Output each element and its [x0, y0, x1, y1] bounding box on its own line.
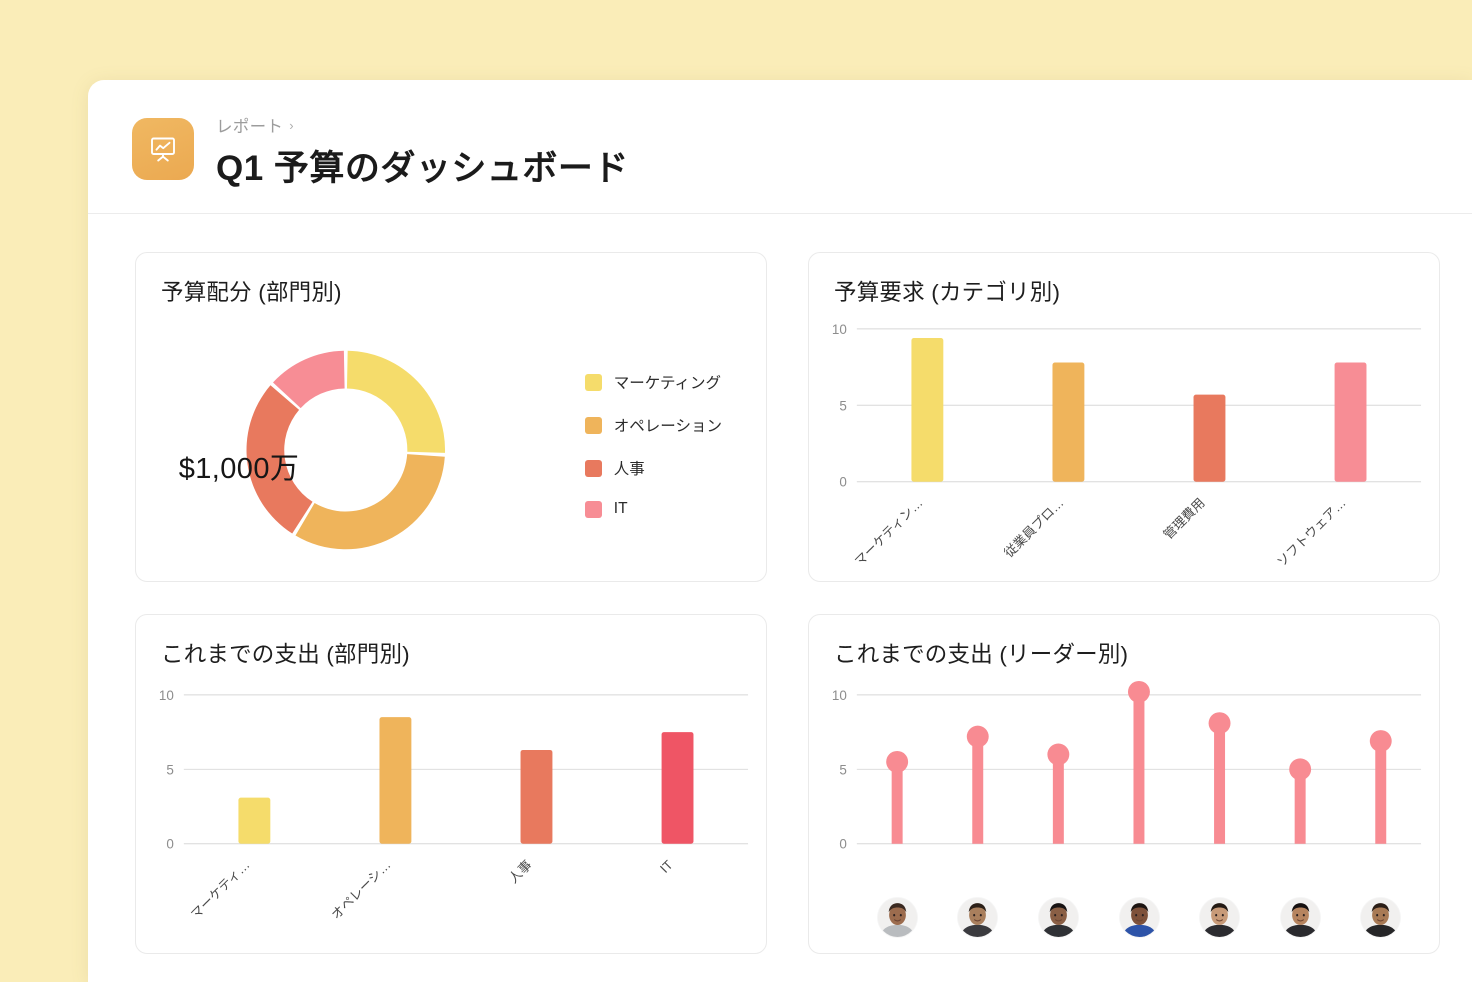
x-tick-label-1: マーケティ… [188, 857, 253, 922]
y-tick-label: 5 [839, 762, 846, 777]
x-tick-label-2: 従業員プロ… [1001, 495, 1067, 560]
y-tick-label: 10 [832, 688, 847, 703]
dashboard-card: レポート › Q1 予算のダッシュボード 予算配分 (部門別) $1,000万 [88, 80, 1472, 982]
donut-slice-2[interactable] [295, 454, 444, 549]
legend-swatch [585, 417, 602, 434]
y-tick-label: 0 [839, 837, 846, 852]
legend-label: オペレーション [614, 414, 722, 436]
lollipop-chart-leaders[interactable]: 0510 [809, 673, 1439, 953]
panel-spend-by-department[interactable]: これまでの支出 (部門別) 0510マーケティ…オペレーシ…人事IT [135, 614, 767, 954]
legend-item-3[interactable]: 人事 [585, 457, 722, 479]
legend-item-2[interactable]: オペレーション [585, 414, 722, 436]
y-tick-label: 0 [839, 475, 846, 490]
legend-item-4[interactable]: IT [585, 500, 722, 518]
x-tick-label-3: 管理費用 [1160, 495, 1207, 542]
x-tick-label-4: ソフトウェア… [1274, 495, 1349, 569]
lollipop-stem-6[interactable] [1295, 769, 1306, 843]
legend-swatch [585, 374, 602, 391]
panel-title: 予算要求 (カテゴリ別) [834, 275, 1060, 307]
panel-title: 予算配分 (部門別) [161, 275, 342, 307]
bar-2[interactable] [1052, 362, 1084, 481]
bar-3[interactable] [521, 750, 553, 844]
chevron-right-icon: › [289, 119, 294, 132]
panel-title: これまでの支出 (部門別) [161, 637, 410, 669]
panel-budget-requests[interactable]: 予算要求 (カテゴリ別) 0510マーケティン…従業員プロ…管理費用ソフトウェア… [808, 252, 1440, 582]
bar-1[interactable] [911, 338, 943, 482]
bar-4[interactable] [662, 732, 694, 844]
lollipop-dot-5[interactable] [1209, 712, 1231, 734]
lollipop-stem-7[interactable] [1375, 741, 1386, 844]
y-tick-label: 5 [839, 398, 846, 413]
breadcrumb[interactable]: レポート › [216, 114, 629, 136]
legend-label: IT [614, 500, 628, 518]
page-header: レポート › Q1 予算のダッシュボード [88, 80, 1472, 214]
lollipop-dot-4[interactable] [1128, 681, 1150, 703]
legend-label: 人事 [614, 457, 645, 479]
bar-chart-departments[interactable]: 0510マーケティ…オペレーシ…人事IT [136, 673, 766, 953]
x-tick-label-2: オペレーシ… [328, 857, 393, 922]
lollipop-dot-6[interactable] [1289, 758, 1311, 780]
y-tick-label: 5 [166, 762, 173, 777]
donut-slice-3[interactable] [247, 385, 313, 533]
y-tick-label: 10 [159, 688, 174, 703]
lollipop-dot-2[interactable] [967, 726, 989, 748]
bar-2[interactable] [379, 717, 411, 844]
legend-label: マーケティング [614, 371, 721, 393]
y-tick-label: 0 [166, 837, 173, 852]
x-tick-label-3: 人事 [506, 857, 535, 886]
dashboard-grid: 予算配分 (部門別) $1,000万 マーケティングオペレーション人事IT 予算… [135, 252, 1440, 954]
presentation-chart-icon [132, 118, 194, 180]
panel-budget-allocation[interactable]: 予算配分 (部門別) $1,000万 マーケティングオペレーション人事IT [135, 252, 767, 582]
bar-4[interactable] [1335, 362, 1367, 481]
bar-3[interactable] [1194, 395, 1226, 482]
legend-swatch [585, 460, 602, 477]
lollipop-stem-2[interactable] [972, 737, 983, 844]
lollipop-stem-4[interactable] [1133, 692, 1144, 844]
legend-item-1[interactable]: マーケティング [585, 371, 722, 393]
donut-legend: マーケティングオペレーション人事IT [585, 371, 722, 518]
screen: レポート › Q1 予算のダッシュボード 予算配分 (部門別) $1,000万 [0, 0, 1472, 982]
x-tick-label-4: IT [657, 857, 676, 876]
breadcrumb-label: レポート [216, 113, 283, 137]
lollipop-dot-7[interactable] [1370, 730, 1392, 752]
page-title: Q1 予算のダッシュボード [216, 140, 629, 191]
y-tick-label: 10 [832, 322, 847, 337]
lollipop-stem-5[interactable] [1214, 723, 1225, 844]
legend-swatch [585, 501, 602, 518]
lollipop-dot-3[interactable] [1047, 743, 1069, 765]
bar-chart-requests[interactable]: 0510マーケティン…従業員プロ…管理費用ソフトウェア… [809, 311, 1439, 581]
x-tick-label-1: マーケティン… [852, 495, 926, 569]
lollipop-dot-1[interactable] [886, 751, 908, 773]
donut-slice-1[interactable] [347, 351, 445, 453]
panel-spend-by-leader[interactable]: これまでの支出 (リーダー別) 0510 [808, 614, 1440, 954]
lollipop-stem-3[interactable] [1053, 754, 1064, 843]
lollipop-stem-1[interactable] [892, 762, 903, 844]
panel-title: これまでの支出 (リーダー別) [834, 637, 1128, 669]
bar-1[interactable] [238, 798, 270, 844]
